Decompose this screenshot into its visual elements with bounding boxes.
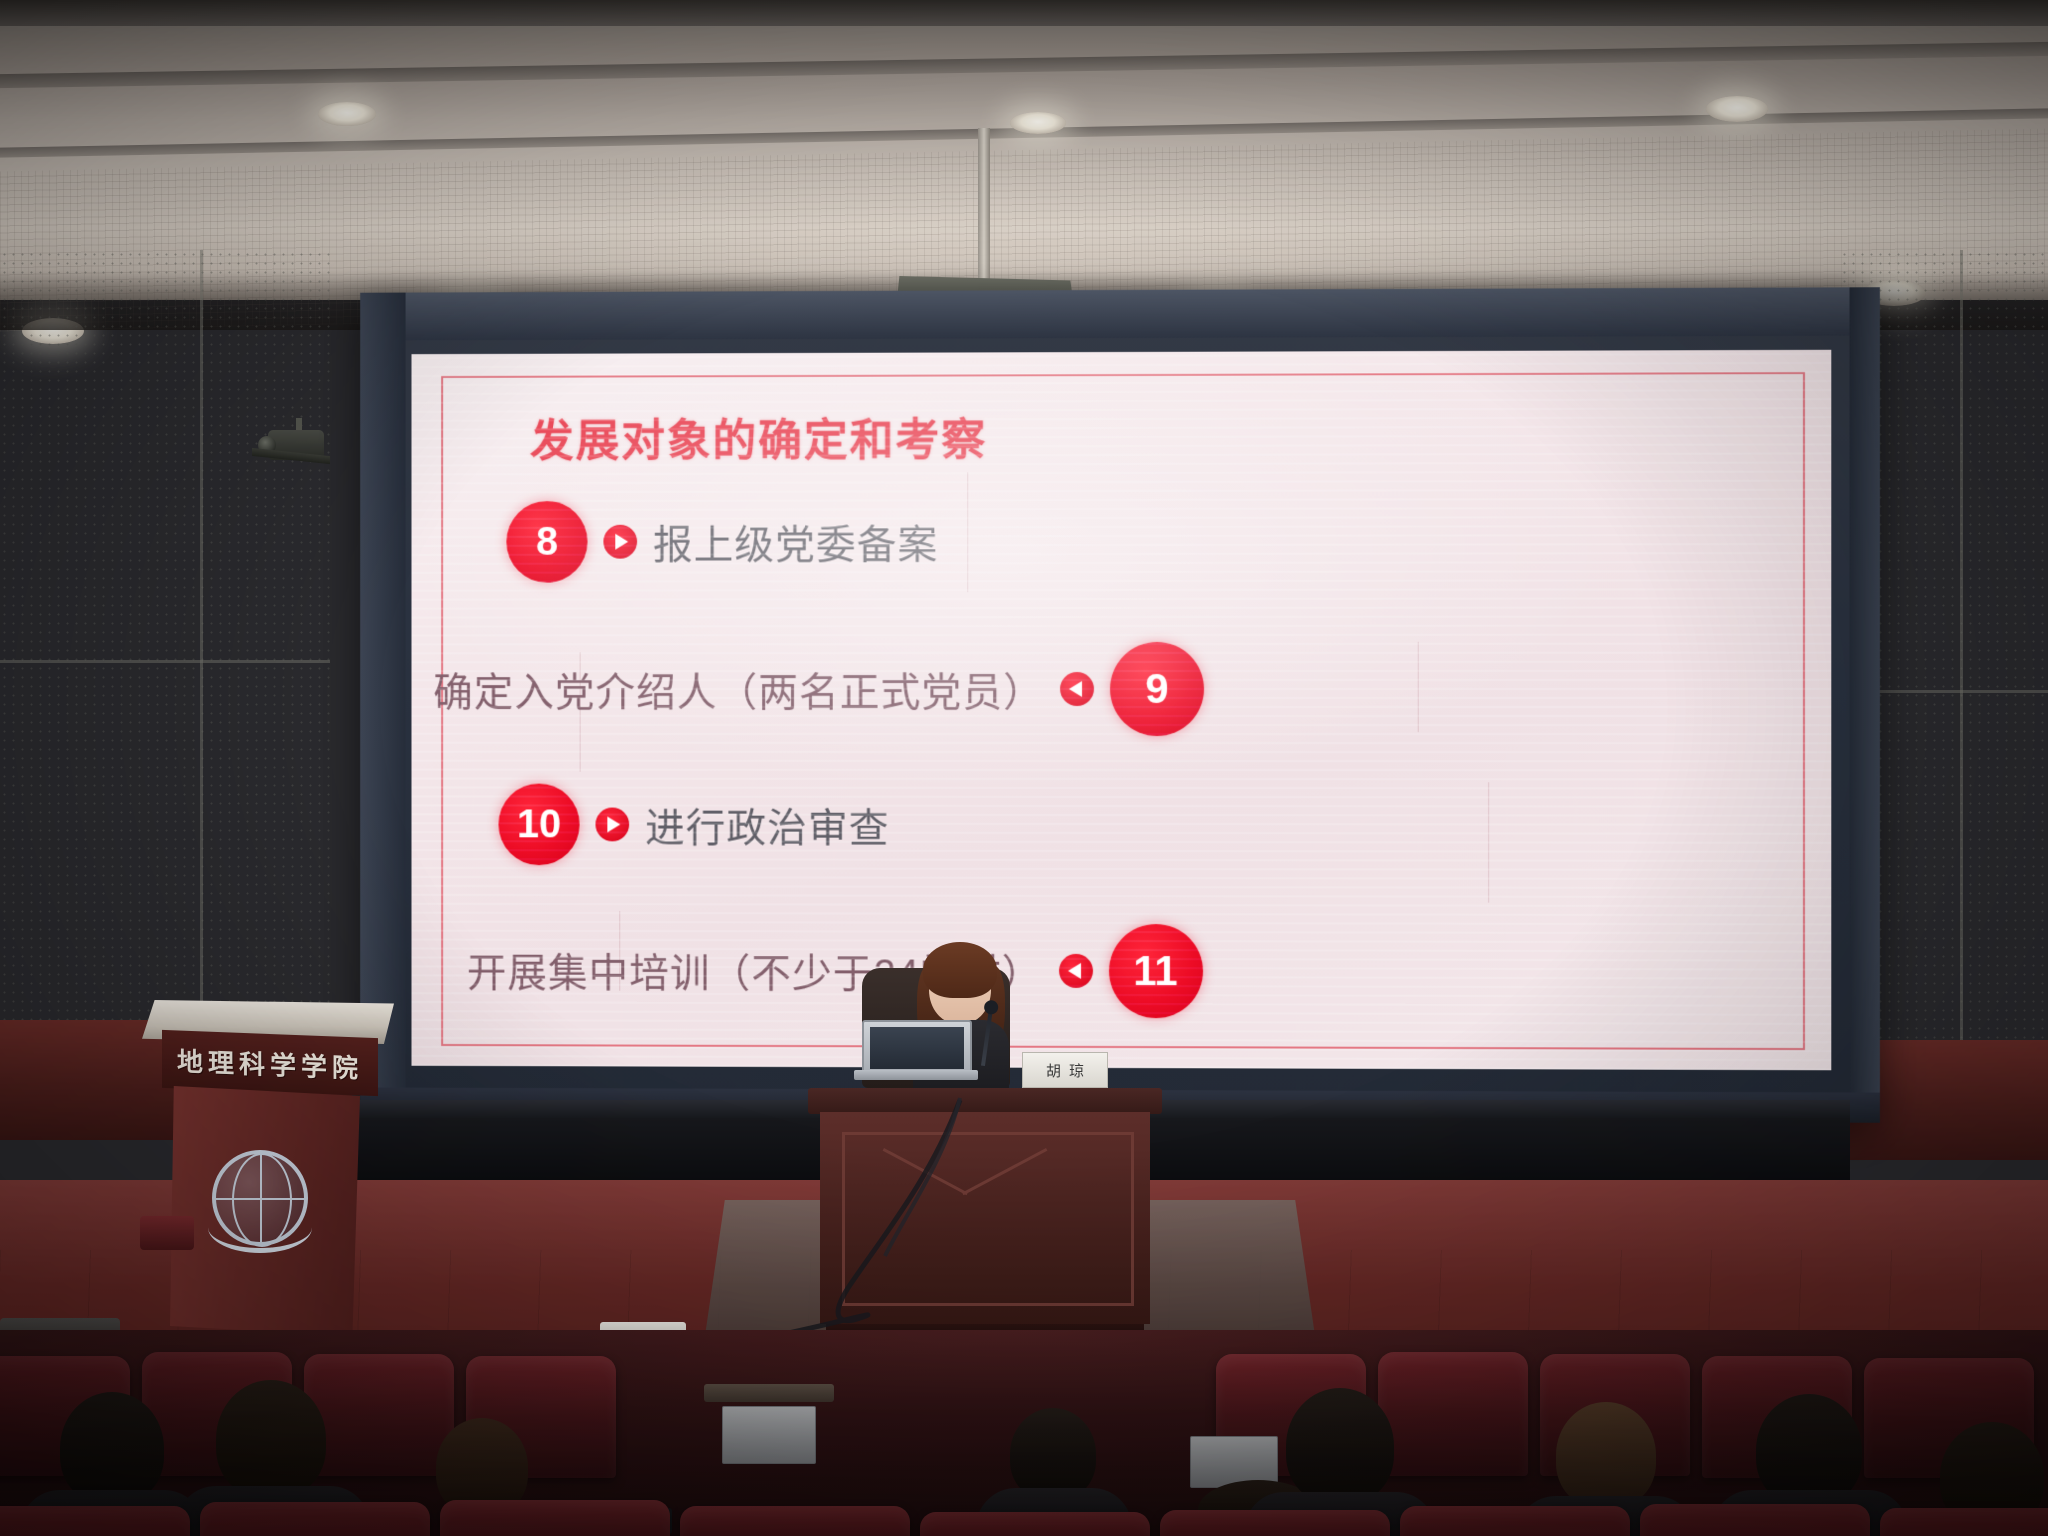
seat [440, 1500, 670, 1536]
slide-item-10: 10 进行政治审查 [498, 784, 889, 866]
slide-title: 发展对象的确定和考察 [530, 404, 987, 469]
seat [680, 1506, 910, 1536]
audience-head [1286, 1388, 1394, 1504]
seat [1400, 1506, 1630, 1536]
seat [304, 1354, 454, 1476]
seat [1160, 1510, 1390, 1536]
presenter-laptop-icon [862, 1020, 972, 1082]
seat-desk [704, 1384, 834, 1402]
lecture-hall-photo: 发展对象的确定和考察 8 报上级党委备案 确定入党介绍人（两名正式党员） 9 1… [0, 0, 2048, 1536]
screen-bezel-right [1850, 287, 1880, 1123]
led-display-screen: 发展对象的确定和考察 8 报上级党委备案 确定入党介绍人（两名正式党员） 9 1… [360, 287, 1880, 1123]
seat [1640, 1504, 1870, 1536]
university-emblem-icon [212, 1150, 308, 1246]
projector-mount-pole [978, 128, 990, 280]
wall-seam [1960, 250, 1963, 1040]
podium-label: 地理科学学院 [177, 1041, 363, 1085]
laptop-lid [862, 1020, 972, 1076]
laptop-base [854, 1070, 978, 1080]
floor-object [140, 1216, 194, 1250]
wall-left-panel [0, 250, 330, 1020]
play-left-icon [1060, 672, 1094, 706]
downlight-icon [318, 102, 376, 126]
audience-head [1010, 1408, 1096, 1500]
slide-item-9: 确定入党介绍人（两名正式党员） 9 [433, 642, 1204, 736]
slide-hairline [967, 472, 968, 592]
podium-name-plate: 地理科学学院 [162, 1030, 378, 1096]
downlight-icon [1706, 96, 1768, 122]
nameplate-char-2: 琼 [1069, 1060, 1084, 1081]
table-top [808, 1088, 1162, 1114]
ceiling-beam-front [0, 0, 2048, 26]
audience-head [216, 1380, 326, 1498]
presenter-table [820, 1088, 1150, 1348]
lectern-podium: 地理科学学院 [170, 1000, 370, 1340]
slide-item-11: 开展集中培训（不少于24学时） 11 [467, 923, 1203, 1018]
audience-laptop [722, 1406, 816, 1464]
play-left-icon [1059, 954, 1093, 988]
step-label: 报上级党委备案 [653, 512, 938, 570]
seat [1378, 1352, 1528, 1476]
audience-seating [0, 1330, 2048, 1536]
screen-bezel-top [360, 287, 1880, 340]
presentation-slide: 发展对象的确定和考察 8 报上级党委备案 确定入党介绍人（两名正式党员） 9 1… [412, 350, 1832, 1070]
ceiling-beam-mid [0, 42, 2048, 88]
seat [920, 1512, 1150, 1536]
slide-hairline [1418, 642, 1419, 732]
nameplate-char-1: 胡 [1046, 1060, 1061, 1081]
wall-seam [0, 660, 330, 663]
seat [1880, 1508, 2048, 1536]
play-right-icon [603, 525, 637, 559]
screen-bezel-left [360, 293, 405, 1118]
laptop-screen [870, 1027, 964, 1069]
hair-top [923, 942, 997, 998]
step-badge-number: 11 [1109, 924, 1203, 1018]
desk-nameplate: 胡 琼 [1022, 1052, 1108, 1088]
step-label: 确定入党介绍人（两名正式党员） [433, 660, 1044, 718]
slide-hairline [1488, 782, 1489, 902]
audience-head [60, 1392, 164, 1504]
seat [200, 1502, 430, 1536]
step-badge-number: 8 [506, 501, 587, 583]
audience-head [1556, 1402, 1656, 1508]
step-badge-number: 10 [498, 784, 579, 866]
table-diamond-ornament [884, 1148, 1046, 1226]
seat [0, 1506, 190, 1536]
wall-seam [200, 250, 203, 1020]
downlight-icon [1010, 112, 1066, 134]
step-label: 进行政治审查 [645, 796, 889, 854]
play-right-icon [595, 808, 629, 842]
step-badge-number: 9 [1110, 642, 1204, 736]
slide-item-8: 8 报上级党委备案 [506, 500, 938, 582]
